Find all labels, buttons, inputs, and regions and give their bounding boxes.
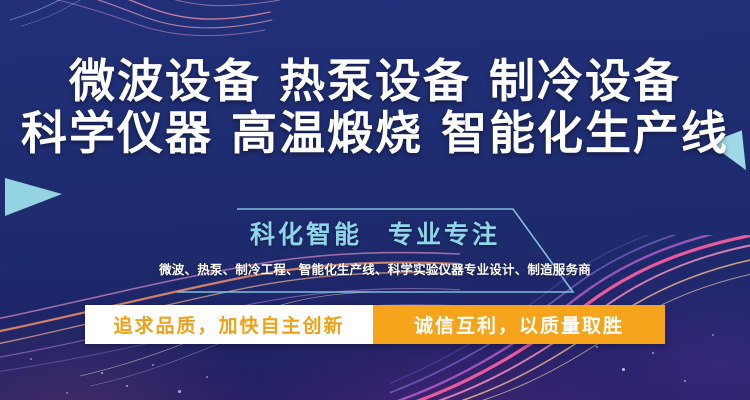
sparkle-particle xyxy=(101,372,103,374)
sparkle-particle xyxy=(126,385,128,387)
headline-line2-part1: 科学仪器 xyxy=(21,106,213,160)
headline-line1-part2: 热泵设备 xyxy=(279,54,471,108)
sparkle-particle xyxy=(684,380,686,382)
slogan-bar-integrity: 诚信互利，以质量取胜 xyxy=(373,305,665,344)
sparkle-particle xyxy=(206,376,208,378)
headline-block: 微波设备热泵设备制冷设备 科学仪器高温煅烧智能化生产线 xyxy=(0,55,750,159)
sparkle-particle xyxy=(66,392,68,394)
left-arrow-icon xyxy=(5,178,62,216)
subheading-left: 科化智能 xyxy=(250,220,362,249)
slogan-bar-group: 追求品质，加快自主创新 诚信互利，以质量取胜 xyxy=(85,305,665,344)
sparkle-particle xyxy=(178,390,181,393)
headline-line-2: 科学仪器高温煅烧智能化生产线 xyxy=(0,107,750,159)
subheading-block: 科化智能专业专注 微波、热泵、制冷工程、智能化生产线、科学实验仪器专业设计、制造… xyxy=(0,218,750,278)
headline-line2-part3: 智能化生产线 xyxy=(441,106,729,160)
subheading-description: 微波、热泵、制冷工程、智能化生产线、科学实验仪器专业设计、制造服务商 xyxy=(0,259,750,278)
sparkle-particle xyxy=(622,368,625,371)
promotional-banner: 微波设备热泵设备制冷设备 科学仪器高温煅烧智能化生产线 科化智能专业专注 微波、… xyxy=(0,0,750,400)
headline-line1-part3: 制冷设备 xyxy=(489,54,681,108)
sparkle-particle xyxy=(152,364,154,366)
headline-line1-part1: 微波设备 xyxy=(69,54,261,108)
sparkle-particle xyxy=(596,346,598,348)
subheading-right: 专业专注 xyxy=(388,220,500,249)
sparkle-particle xyxy=(30,358,32,360)
headline-line2-part2: 高温煅烧 xyxy=(231,106,423,160)
sparkle-particle xyxy=(652,352,654,354)
subheading-slogan: 科化智能专业专注 xyxy=(0,218,750,252)
headline-line-1: 微波设备热泵设备制冷设备 xyxy=(0,55,750,107)
slogan-bar-quality: 追求品质，加快自主创新 xyxy=(85,305,373,344)
sparkle-particle xyxy=(712,334,714,336)
